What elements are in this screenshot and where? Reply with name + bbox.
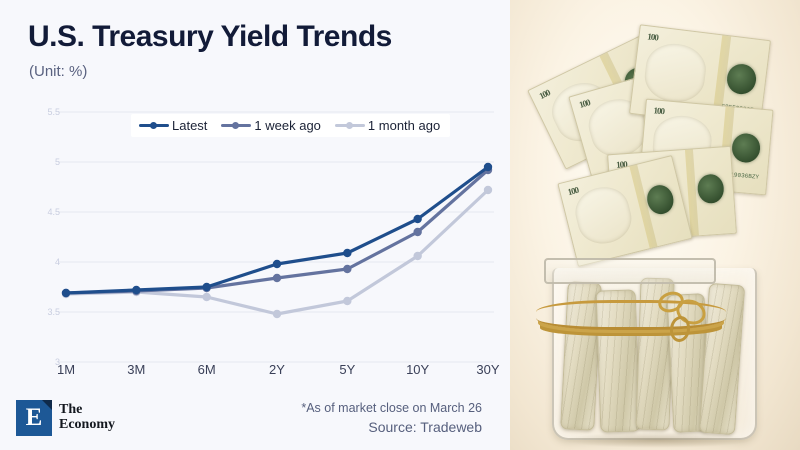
series-point	[413, 228, 421, 236]
banknote-denomination: 100	[538, 88, 552, 102]
photo-content: 100 100 100 62558929F 100 I19036BZY 100	[510, 0, 800, 450]
jar-shadow	[562, 432, 752, 448]
series-point	[413, 215, 421, 223]
x-axis-tick-label: 3M	[106, 362, 166, 377]
as-of-note: *As of market close on March 26	[301, 401, 482, 415]
legend-item-label: 1 month ago	[368, 118, 440, 133]
twine-bow	[658, 290, 710, 342]
x-axis-tick-label: 2Y	[247, 362, 307, 377]
chart-series-layer	[62, 163, 492, 318]
legend-swatch-icon	[335, 121, 365, 131]
legend-swatch-icon	[221, 121, 251, 131]
logo-wordmark-line2: Economy	[59, 418, 115, 433]
jar-rim	[544, 258, 716, 284]
banknote-denomination: 100	[653, 105, 664, 116]
y-axis-tick-label: 4.5	[20, 207, 60, 217]
series-point	[132, 286, 140, 294]
chart-legend: Latest1 week ago1 month ago	[131, 114, 450, 137]
chart-panel: U.S. Treasury Yield Trends (Unit: %) 5.5…	[0, 0, 510, 450]
x-axis-tick-label: 6M	[177, 362, 237, 377]
legend-item[interactable]: 1 week ago	[221, 118, 321, 133]
y-axis-tick-label: 3.5	[20, 307, 60, 317]
banknote-denomination: 100	[578, 98, 591, 111]
glass-jar	[552, 268, 757, 440]
infographic-root: U.S. Treasury Yield Trends (Unit: %) 5.5…	[0, 0, 800, 450]
logo-wordmark-line1: The	[59, 403, 115, 418]
y-axis-ticks: 5.554.543.53	[20, 100, 60, 400]
x-axis-tick-label: 10Y	[388, 362, 448, 377]
money-jar-photo: 100 100 100 62558929F 100 I19036BZY 100	[510, 0, 800, 450]
logo-corner-flag-icon	[42, 400, 52, 410]
logo-wordmark: The Economy	[59, 403, 115, 432]
series-line	[66, 190, 488, 314]
banknote-stripe	[629, 165, 657, 248]
page-title: U.S. Treasury Yield Trends	[28, 20, 392, 54]
legend-swatch-icon	[139, 121, 169, 131]
banknote: 100	[557, 155, 692, 267]
series-point	[484, 163, 492, 171]
y-axis-tick-label: 5.5	[20, 107, 60, 117]
chart-canvas	[0, 100, 510, 400]
series-point	[343, 297, 351, 305]
x-axis-ticks: 1M3M6M2Y5Y10Y30Y	[0, 362, 510, 392]
brand-logo: E The Economy	[16, 400, 115, 436]
banknote-denomination: 100	[647, 32, 659, 43]
series-point	[343, 265, 351, 273]
x-axis-tick-label: 1M	[36, 362, 96, 377]
series-point	[273, 260, 281, 268]
legend-item[interactable]: 1 month ago	[335, 118, 440, 133]
series-point	[273, 274, 281, 282]
legend-item[interactable]: Latest	[139, 118, 207, 133]
legend-item-label: 1 week ago	[254, 118, 321, 133]
series-point	[202, 283, 210, 291]
legend-item-label: Latest	[172, 118, 207, 133]
logo-letter: E	[26, 405, 43, 430]
chart-gridlines	[58, 112, 494, 362]
x-axis-tick-label: 30Y	[458, 362, 518, 377]
line-chart: 5.554.543.53 1M3M6M2Y5Y10Y30Y Latest1 we…	[0, 100, 510, 400]
series-point	[413, 252, 421, 260]
logo-mark-icon: E	[16, 400, 52, 436]
series-point	[202, 293, 210, 301]
series-point	[62, 289, 70, 297]
banknote-denomination: 100	[567, 185, 580, 197]
series-point	[343, 249, 351, 257]
page-subtitle: (Unit: %)	[29, 63, 87, 80]
y-axis-tick-label: 4	[20, 257, 60, 267]
series-point	[484, 186, 492, 194]
x-axis-tick-label: 5Y	[317, 362, 377, 377]
series-point	[273, 310, 281, 318]
source-note: Source: Tradeweb	[368, 419, 482, 435]
y-axis-tick-label: 5	[20, 157, 60, 167]
